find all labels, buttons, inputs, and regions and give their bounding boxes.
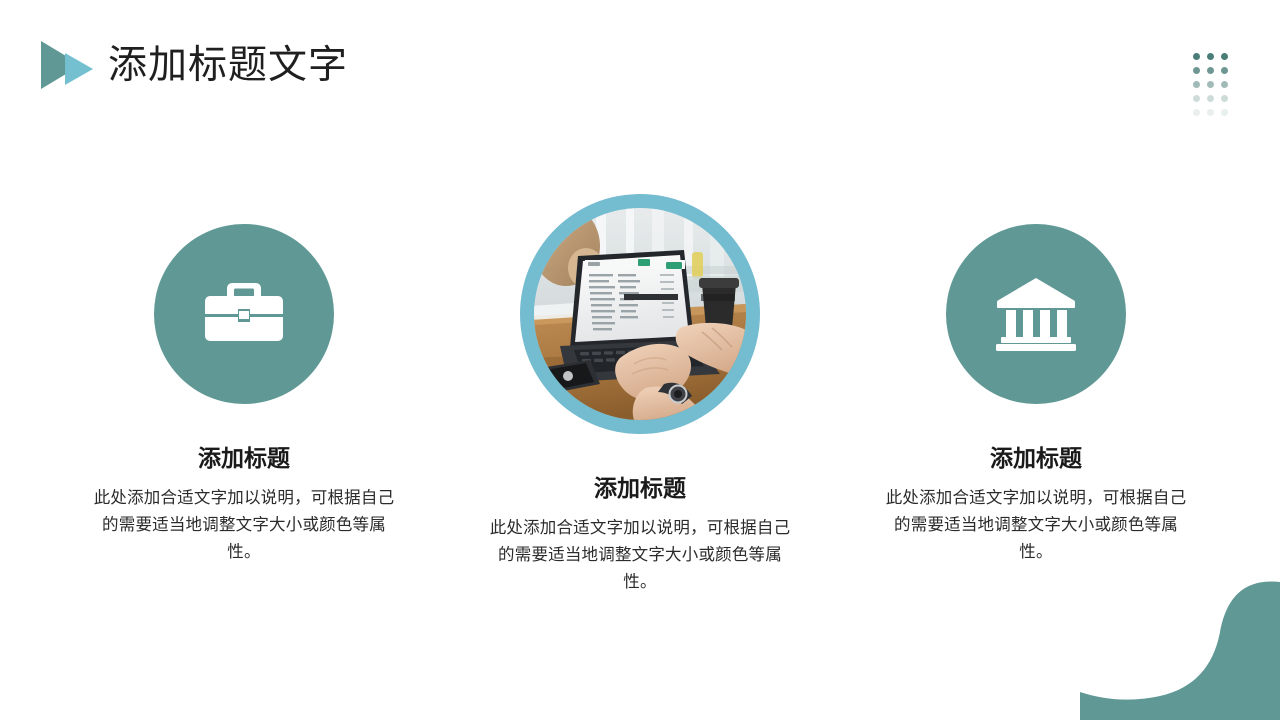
briefcase-icon-circle[interactable]	[154, 224, 334, 404]
dot-cell	[1203, 49, 1217, 63]
dot-cell	[1189, 77, 1203, 91]
dot-cell	[1189, 49, 1203, 63]
column-title: 添加标题	[990, 444, 1082, 474]
dot-grid-decoration-icon	[1189, 49, 1231, 119]
column-title: 添加标题	[594, 474, 686, 504]
dot-cell	[1203, 91, 1217, 105]
column-body-text: 此处添加合适文字加以说明，可根据自己的需要适当地调整文字大小或颜色等属性。	[880, 484, 1192, 565]
slide-canvas: 添加标题文字	[0, 0, 1280, 720]
dot-cell	[1189, 63, 1203, 77]
content-column-3: 添加标题 此处添加合适文字加以说明，可根据自己的需要适当地调整文字大小或颜色等属…	[836, 205, 1236, 565]
content-column-2: 添加标题 此处添加合适文字加以说明，可根据自己的需要适当地调整文字大小或颜色等属…	[440, 205, 840, 595]
column-title: 添加标题	[198, 444, 290, 474]
bank-building-icon	[993, 274, 1079, 354]
double-play-triangle-logo-icon	[41, 39, 97, 91]
briefcase-icon	[202, 277, 286, 351]
content-column-1: 添加标题 此处添加合适文字加以说明，可根据自己的需要适当地调整文字大小或颜色等属…	[44, 205, 444, 565]
dot-cell	[1217, 77, 1231, 91]
column-body-text: 此处添加合适文字加以说明，可根据自己的需要适当地调整文字大小或颜色等属性。	[88, 484, 400, 565]
laptop-typing-photo-circle[interactable]	[520, 194, 760, 434]
laptop-typing-photo	[534, 208, 746, 420]
dot-cell	[1217, 105, 1231, 119]
three-column-content: 添加标题 此处添加合适文字加以说明，可根据自己的需要适当地调整文字大小或颜色等属…	[0, 205, 1280, 625]
dot-cell	[1203, 77, 1217, 91]
dot-cell	[1203, 63, 1217, 77]
dot-cell	[1217, 63, 1231, 77]
page-title: 添加标题文字	[108, 40, 348, 92]
dot-cell	[1217, 49, 1231, 63]
dot-cell	[1203, 105, 1217, 119]
column-body-text: 此处添加合适文字加以说明，可根据自己的需要适当地调整文字大小或颜色等属性。	[484, 514, 796, 595]
slide-header: 添加标题文字	[0, 0, 1280, 130]
dot-cell	[1189, 91, 1203, 105]
dot-cell	[1217, 91, 1231, 105]
dot-cell	[1189, 105, 1203, 119]
bank-building-icon-circle[interactable]	[946, 224, 1126, 404]
